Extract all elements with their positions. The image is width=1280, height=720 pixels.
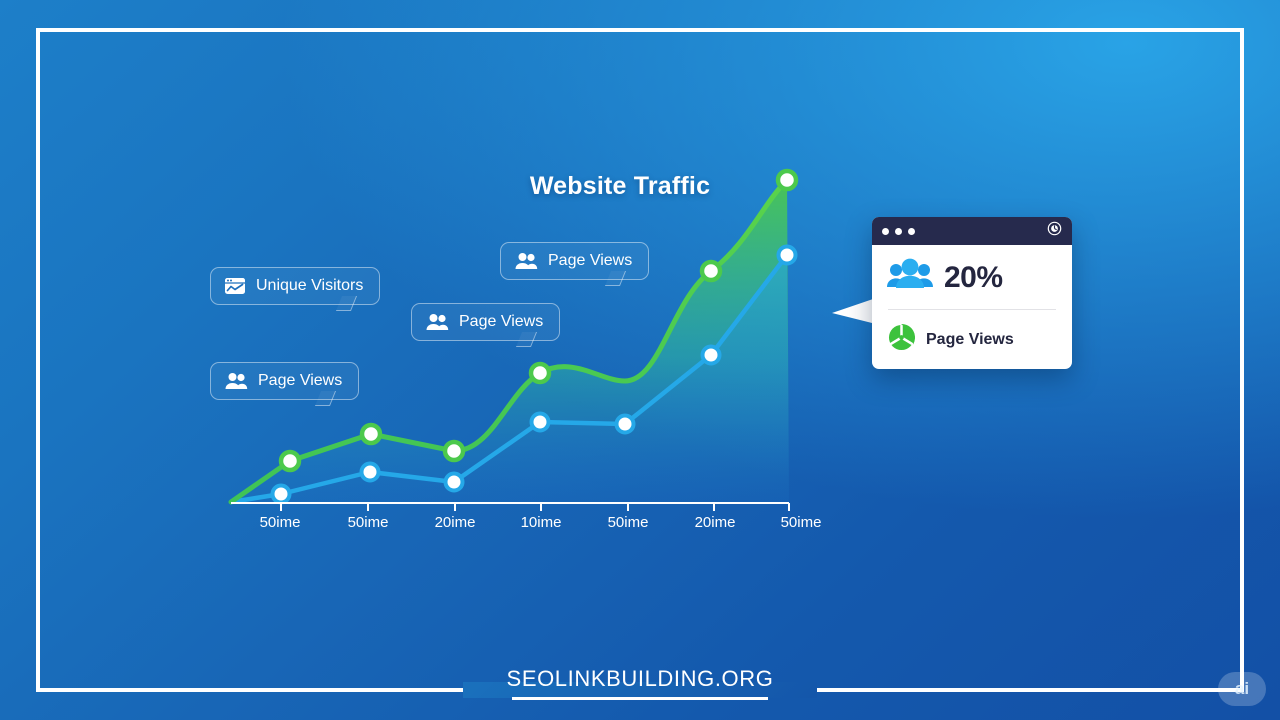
people-icon [425, 313, 449, 331]
stats-popup-card[interactable]: 20% Page Views [872, 217, 1072, 369]
clock-icon[interactable] [1047, 221, 1062, 241]
traffic-line-chart [0, 0, 1280, 720]
legend-chip-page-views-low[interactable]: Page Views [210, 362, 359, 400]
x-axis-label-1: 50ime [323, 514, 413, 531]
x-axis-label-2: 20ime [410, 514, 500, 531]
legend-chip-label: Page Views [258, 372, 342, 390]
card-percent-row: 20% [886, 256, 1058, 299]
window-dots [882, 228, 915, 235]
people-icon [224, 372, 248, 390]
metric-label: Page Views [926, 331, 1014, 349]
card-pointer-tail [832, 292, 876, 330]
percent-value: 20% [944, 261, 1003, 295]
x-axis-label-6: 50ime [756, 514, 846, 531]
legend-chip-page-views-top[interactable]: Page Views [500, 242, 649, 280]
card-metric-row: Page Views [872, 310, 1072, 356]
card-body: 20% [872, 245, 1072, 310]
people-icon [514, 252, 538, 270]
legend-chip-label: Unique Visitors [256, 277, 363, 295]
chip-pointer-tail [608, 278, 622, 292]
footer-brand: SEOLINKBUILDING.ORG [0, 666, 1280, 692]
x-axis-label-5: 20ime [670, 514, 760, 531]
footer-underline [512, 697, 768, 700]
legend-chip-unique-visitors[interactable]: Unique Visitors [210, 267, 380, 305]
pie-chart-icon [888, 324, 915, 356]
chip-pointer-tail [318, 398, 332, 412]
legend-chip-label: Page Views [548, 252, 632, 270]
x-axis-label-0: 50ime [235, 514, 325, 531]
legend-chip-label: Page Views [459, 313, 543, 331]
page-title: Website Traffic [0, 172, 1240, 201]
chart-canvas: Website Traffic 50ime 50ime 20ime 10ime … [0, 0, 1280, 720]
chip-pointer-tail [339, 303, 353, 317]
x-axis-label-4: 50ime [583, 514, 673, 531]
x-axis-label-3: 10ime [496, 514, 586, 531]
legend-chip-page-views-mid[interactable]: Page Views [411, 303, 560, 341]
card-title-bar [872, 217, 1072, 245]
people-group-icon [886, 256, 934, 299]
chip-pointer-tail [519, 339, 533, 353]
ai-watermark-badge: ai [1218, 672, 1266, 706]
browser-chart-icon [224, 277, 246, 295]
x-axis [231, 503, 789, 511]
